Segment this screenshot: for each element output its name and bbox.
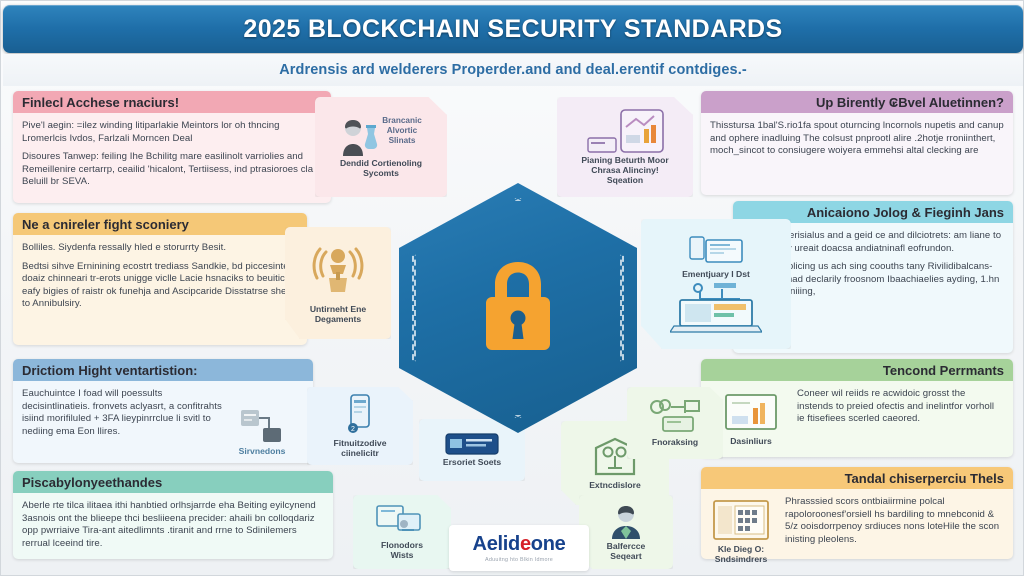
panel-heading: Up Birently ₢Bvel Aluetinnen? [701,91,1013,113]
brand-logo: Aelideone Aduuitng hto Blkin Idmore [449,525,589,571]
icon-card-flonodors-wists[interactable]: Flonodors Wists [353,495,451,569]
svg-text:2: 2 [351,426,355,433]
icon-card-label: Ementjuary I Dst [682,269,750,279]
panel-body: Aberle rte tilca ilitaea ithi hanbtied o… [13,493,333,558]
panel-heading: Ne a cnireler fight sconiery [13,213,307,235]
icon-card-label: Extncdislore [589,480,641,490]
panel-paragraph: Pive'l aegin: =ilez winding litiparlakie… [22,120,322,145]
icon-card-label: Pianing Beturth Moor Chrasa Alinciny! Sq… [581,155,668,185]
agent-person-icon [606,503,646,539]
bar-chart-icon [725,394,777,434]
panel-paragraph: Disoures Tanwep: feiling Ihe Bchilitg ma… [22,151,322,189]
network-tree-icon [647,399,703,435]
panel-paragraph: Coneer wil reiids re acwidoic grosst the… [797,388,1004,426]
panel-body: Pive'l aegin: =ilez winding litiparlakie… [13,113,331,197]
icon-card-label: Fitnuitzodive ciinelicitr [334,438,387,458]
panel-paragraph: Bedtsi sihve Erninining ecostrt trediass… [22,261,298,311]
server-stack-icon [239,408,285,444]
icon-card-label: Dendid Cortienoling Sycomts [340,158,422,178]
panel-finecl-acchese[interactable]: Finlecl Acchese rnaciurs! Pive'l aegin: … [13,91,331,203]
panel-ne-acnireler[interactable]: Ne a cnireler fight sconiery Bolliles. S… [13,213,307,345]
panel-heading: Tencond Perrmants [701,359,1013,381]
icon-card-label: Untirneht Ene Degaments [310,304,366,324]
satellite-dish-icon [309,242,367,302]
icon-card-untimeht-ene[interactable]: Untirneht Ene Degaments [285,227,391,339]
padlock-icon [475,258,561,358]
panel-heading: Finlecl Acchese rnaciurs! [13,91,331,113]
panel-paragraph: Eauchuintce I foad will poessults decisi… [22,388,222,438]
icon-card-svonedons[interactable]: Sirvnedons [227,401,297,463]
icon-card-balfercce-seqert[interactable]: Balfercce Seqeart [579,495,673,569]
icon-card-fitnuitzodive[interactable]: 2 Fitnuitzodive ciinelicitr [307,387,413,465]
infographic-canvas: 2025 BLOCKCHAIN SECURITY STANDARDS Ardre… [0,0,1024,576]
laptop-dashboard-icon [670,281,762,333]
icon-card-label: Ersoriet Soets [443,457,501,467]
badge-card-icon [445,433,499,455]
logo-word-part-a: Aelid [473,533,520,555]
panel-heading: Drictiom Hight ventartistion: [13,359,313,381]
dual-screen-icon [376,504,428,538]
panel-paragraph: Bolliles. Siydenfa ressally hled e storu… [22,242,298,255]
icon-card-label: Flonodors Wists [381,540,423,560]
icon-card-ementjuary-dst[interactable]: Ementjuary I Dst [641,219,791,349]
icon-card-planing-beturth[interactable]: Pianing Beturth Moor Chrasa Alinciny! Sq… [557,97,693,197]
icon-card-label: Fnoraksing [652,437,698,447]
logo-tagline: Aduuitng hto Blkin Idmore [485,557,553,563]
icon-card-label: Balfercce Seqeart [607,541,646,561]
icon-card-dendid-cortenoling[interactable]: Brancanic Alvortic Slinats Dendid Cortie… [315,97,447,197]
central-hexagon-badge [399,183,637,433]
panel-heading: Tandal chiserperciu Thels [701,467,1013,489]
mobile-phone-icon: 2 [347,394,373,436]
panel-paragraph: Aberle rte tilca ilitaea ithi hanbtied o… [22,500,324,550]
panel-body: Thisstursa 1bal'S.rio1fa spout oturncing… [701,113,1013,166]
icon-card-label: Kle Dieg O: Sndsimdrers [715,544,768,564]
icon-card-sublabel: Brancanic Alvortic Slinats [382,116,422,146]
page-subtitle: Ardrensis ard welderers Properder.and an… [279,62,747,78]
window-bar-icon [587,137,617,153]
panel-body: Bolliles. Siydenfa ressally hled e storu… [13,235,307,319]
icon-card-kle-dieg-o[interactable]: Kle Dieg O: Sndsimdrers [693,495,789,569]
logo-wordmark: Aelideone [473,533,566,556]
chart-window-icon [620,109,664,153]
panel-paragraph: Phrasssied scors ontbiaiirmine polcal ra… [785,496,1004,546]
title-banner: 2025 BLOCKCHAIN SECURITY STANDARDS [3,5,1023,53]
person-flask-icon [340,116,378,156]
panel-up-birently[interactable]: Up Birently ₢Bvel Aluetinnen? Thisstursa… [701,91,1013,195]
icon-card-label: Sirvnedons [239,446,286,456]
panel-heading: Piscabylonyeethandes [13,471,333,493]
monitor-laptop-icon [689,235,743,267]
logo-word-accent: e [520,533,531,555]
document-grid-icon [713,500,769,542]
panel-piscabylonyeethandes[interactable]: Piscabylonyeethandes Aberle rte tilca il… [13,471,333,559]
logo-word-part-b: one [531,533,566,555]
panel-paragraph: Thisstursa 1bal'S.rio1fa spout oturncing… [710,120,1004,158]
subtitle-banner: Ardrensis ard welderers Properder.and an… [3,54,1023,86]
icon-card-label: Dasinliurs [730,436,772,446]
icon-card-dasinliurs[interactable]: Dasinliurs [709,387,793,453]
page-title: 2025 BLOCKCHAIN SECURITY STANDARDS [243,15,782,44]
